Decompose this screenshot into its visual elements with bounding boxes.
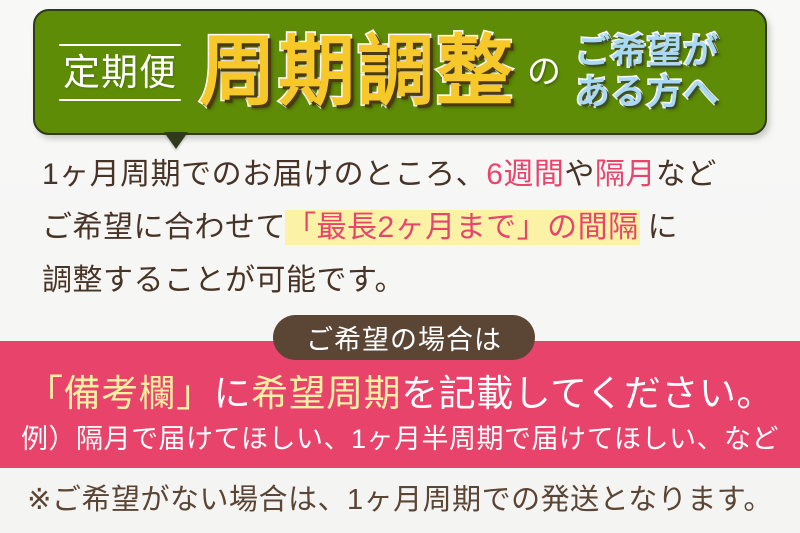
instruction-main-tail: を記載してください。 <box>401 373 774 414</box>
instruction-particle-ni: に <box>214 373 252 414</box>
instruction-example-line: 例）隔月で届けてほしい、1ヶ月半周期で届けてほしい、など <box>0 417 800 456</box>
accent-six-weeks: 6週間 <box>486 158 564 191</box>
page-title: 周期調整 <box>199 34 515 111</box>
description-line-1-tail: など <box>656 158 717 191</box>
description-line-1-conj: や <box>564 158 595 191</box>
description-line-1-text: 1ヶ月周期でのお届けのところ、 <box>42 158 486 191</box>
request-case-pill: ご希望の場合は <box>273 315 535 360</box>
accent-remarks-field: 「備考欄」 <box>26 373 214 414</box>
header-aside-line-2: ある方へ <box>575 73 719 112</box>
description-line-2: ご希望に合わせて「最長2ヶ月まで」の間隔 に <box>42 201 800 254</box>
subscription-badge: 定期便 <box>59 43 181 102</box>
title-particle: の <box>527 55 561 89</box>
header-aside: ご希望が ある方へ <box>575 32 719 112</box>
description-paragraph: 1ヶ月周期でのお届けのところ、6週間や隔月など ご希望に合わせて「最長2ヶ月まで… <box>0 148 800 307</box>
accent-desired-cycle: 希望周期 <box>251 373 401 414</box>
promo-banner: 定期便 周期調整 の ご希望が ある方へ 1ヶ月周期でのお届けのところ、6週間や… <box>0 0 800 533</box>
highlight-max-two-months: 「最長2ヶ月まで」の間隔 <box>286 211 639 244</box>
header-bubble-area: 定期便 周期調整 の ご希望が ある方へ <box>0 0 800 148</box>
description-line-3: 調整することが可能です。 <box>42 254 800 307</box>
header-aside-line-1: ご希望が <box>575 32 719 71</box>
description-line-2-tail: に <box>639 211 678 244</box>
instruction-main-line: 「備考欄」に希望周期を記載してください。 <box>0 363 800 417</box>
header-content: 定期便 周期調整 の ご希望が ある方へ <box>33 9 767 135</box>
accent-every-other-month: 隔月 <box>595 158 656 191</box>
description-line-2-text: ご希望に合わせて <box>42 211 286 244</box>
footnote-text: ※ご希望がない場合は、1ヶ月周期での発送となります。 <box>0 476 800 518</box>
instruction-band: 「備考欄」に希望周期を記載してください。 例）隔月で届けてほしい、1ヶ月半周期で… <box>0 341 800 468</box>
description-line-1: 1ヶ月周期でのお届けのところ、6週間や隔月など <box>42 148 800 201</box>
